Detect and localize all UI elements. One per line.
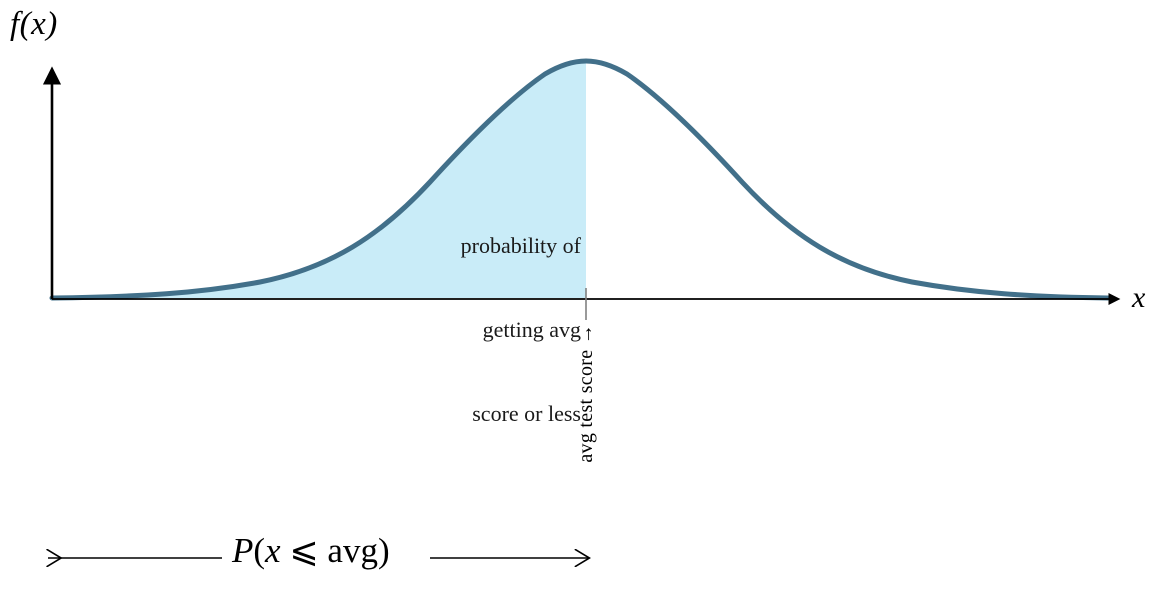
- shaded-area-note-line-3: score or less: [351, 400, 581, 428]
- x-axis-label: x: [1132, 283, 1145, 313]
- mean-marker-label: avg test score →: [576, 324, 596, 463]
- probability-span-label: P(x ⩽ avg): [232, 533, 390, 568]
- y-axis-label: f(x): [10, 8, 58, 41]
- variable-x: x: [265, 531, 281, 570]
- relation-symbol: ⩽: [281, 531, 328, 570]
- paren-close: ): [378, 531, 390, 570]
- paren-open: (: [253, 531, 265, 570]
- shaded-area-note-line-1: probability of: [351, 232, 581, 260]
- probability-symbol: P: [232, 531, 253, 570]
- distribution-plot: [0, 0, 1170, 596]
- avg-token: avg: [327, 531, 378, 570]
- shaded-area-note-line-2: getting avg: [351, 316, 581, 344]
- shaded-area-note: probability of getting avg score or less: [351, 176, 581, 484]
- figure-canvas: f(x) x probability of getting avg score …: [0, 0, 1170, 596]
